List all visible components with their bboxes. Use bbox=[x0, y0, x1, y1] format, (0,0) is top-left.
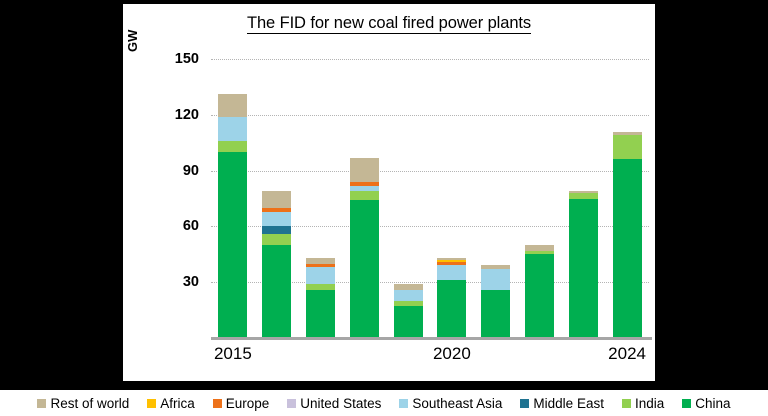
bar-segment-rest-of-world[interactable] bbox=[262, 191, 291, 208]
legend-label: Africa bbox=[160, 396, 195, 411]
bar-segment-rest-of-world[interactable] bbox=[218, 94, 247, 116]
plot-area bbox=[211, 59, 649, 338]
legend-label: United States bbox=[300, 396, 381, 411]
bar-segment-china[interactable] bbox=[218, 152, 247, 338]
bar-segment-southeast-asia[interactable] bbox=[262, 212, 291, 227]
bar-segment-india[interactable] bbox=[613, 135, 642, 159]
bar-2020[interactable] bbox=[437, 258, 466, 338]
legend-item-africa[interactable]: Africa bbox=[147, 396, 195, 411]
legend-label: Europe bbox=[226, 396, 270, 411]
chart-legend: Rest of worldAfricaEuropeUnited StatesSo… bbox=[0, 390, 768, 416]
bar-2022[interactable] bbox=[525, 245, 554, 338]
legend-item-rest-of-world[interactable]: Rest of world bbox=[37, 396, 129, 411]
bar-segment-china[interactable] bbox=[481, 290, 510, 338]
x-tick-label-2020: 2020 bbox=[417, 344, 487, 364]
chart-card: The FID for new coal fired power plants … bbox=[123, 4, 655, 381]
bar-segment-southeast-asia[interactable] bbox=[218, 117, 247, 141]
x-tick-label-2015: 2015 bbox=[198, 344, 268, 364]
bar-segment-china[interactable] bbox=[437, 280, 466, 338]
gridline bbox=[211, 115, 649, 116]
bar-2024[interactable] bbox=[613, 132, 642, 338]
bar-segment-southeast-asia[interactable] bbox=[394, 290, 423, 301]
bar-2016[interactable] bbox=[262, 191, 291, 338]
bar-segment-china[interactable] bbox=[262, 245, 291, 338]
legend-item-europe[interactable]: Europe bbox=[213, 396, 270, 411]
x-tick-label-2024: 2024 bbox=[592, 344, 662, 364]
y-axis-title: GW bbox=[125, 30, 140, 52]
legend-item-united-states[interactable]: United States bbox=[287, 396, 381, 411]
bar-segment-india[interactable] bbox=[350, 191, 379, 200]
legend-swatch-icon bbox=[622, 399, 631, 408]
legend-item-india[interactable]: India bbox=[622, 396, 664, 411]
legend-label: China bbox=[695, 396, 730, 411]
legend-label: Middle East bbox=[533, 396, 604, 411]
legend-item-middle-east[interactable]: Middle East bbox=[520, 396, 604, 411]
gridline bbox=[211, 59, 649, 60]
y-tick-label: 60 bbox=[155, 219, 199, 234]
bar-segment-china[interactable] bbox=[525, 254, 554, 338]
bar-segment-china[interactable] bbox=[394, 306, 423, 338]
bar-segment-middle-east[interactable] bbox=[262, 226, 291, 233]
bar-segment-china[interactable] bbox=[613, 159, 642, 338]
bar-segment-southeast-asia[interactable] bbox=[481, 269, 510, 289]
bar-segment-china[interactable] bbox=[306, 290, 335, 338]
y-tick-label: 30 bbox=[155, 275, 199, 290]
bar-2018[interactable] bbox=[350, 158, 379, 338]
bar-segment-india[interactable] bbox=[218, 141, 247, 152]
legend-swatch-icon bbox=[37, 399, 46, 408]
legend-swatch-icon bbox=[682, 399, 691, 408]
bar-segment-rest-of-world[interactable] bbox=[350, 158, 379, 182]
bar-2023[interactable] bbox=[569, 191, 598, 338]
gridline bbox=[211, 171, 649, 172]
bar-segment-china[interactable] bbox=[569, 199, 598, 339]
chart-title-text: The FID for new coal fired power plants bbox=[247, 14, 531, 34]
bar-segment-southeast-asia[interactable] bbox=[437, 265, 466, 280]
legend-label: Southeast Asia bbox=[412, 396, 502, 411]
legend-swatch-icon bbox=[399, 399, 408, 408]
bar-2015[interactable] bbox=[218, 94, 247, 338]
legend-label: India bbox=[635, 396, 664, 411]
legend-item-southeast-asia[interactable]: Southeast Asia bbox=[399, 396, 502, 411]
bar-segment-china[interactable] bbox=[350, 200, 379, 338]
legend-label: Rest of world bbox=[50, 396, 129, 411]
legend-swatch-icon bbox=[147, 399, 156, 408]
slide-background: The FID for new coal fired power plants … bbox=[0, 0, 768, 416]
chart-title: The FID for new coal fired power plants bbox=[123, 14, 655, 33]
bar-segment-india[interactable] bbox=[262, 234, 291, 245]
bar-2017[interactable] bbox=[306, 258, 335, 338]
y-tick-label: 150 bbox=[155, 52, 199, 67]
legend-swatch-icon bbox=[287, 399, 296, 408]
bar-2021[interactable] bbox=[481, 265, 510, 338]
legend-swatch-icon bbox=[213, 399, 222, 408]
bar-segment-southeast-asia[interactable] bbox=[306, 267, 335, 284]
legend-item-china[interactable]: China bbox=[682, 396, 730, 411]
x-axis-line bbox=[211, 337, 652, 340]
bar-2019[interactable] bbox=[394, 284, 423, 338]
legend-swatch-icon bbox=[520, 399, 529, 408]
y-tick-label: 120 bbox=[155, 108, 199, 123]
y-tick-label: 90 bbox=[155, 164, 199, 179]
